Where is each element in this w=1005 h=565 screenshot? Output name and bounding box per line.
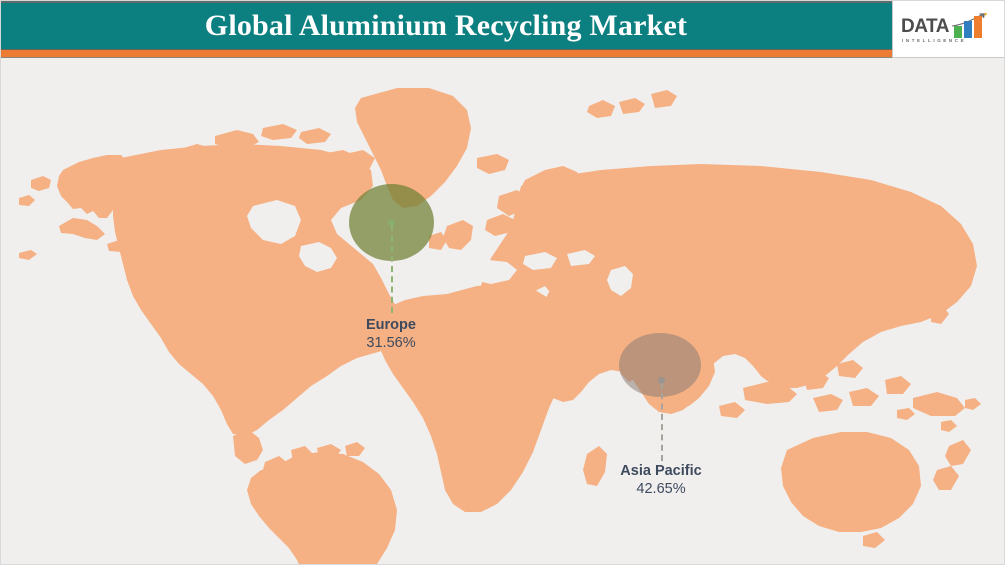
- callout-asia-pacific: Asia Pacific 42.65%: [591, 462, 731, 498]
- header-bar: Global Aluminium Recycling Market: [1, 1, 1005, 49]
- callout-europe: Europe 31.56%: [321, 316, 461, 352]
- logo-bar-blue: [964, 21, 972, 38]
- logo-bar-green: [954, 26, 962, 38]
- slide-canvas: Global Aluminium Recycling Market DATA I…: [0, 0, 1005, 565]
- logo-inner: DATA INTELLIGENCE: [899, 11, 999, 49]
- callout-asia-pacific-value: 42.65%: [591, 480, 731, 498]
- leader-line-europe: [391, 225, 393, 313]
- bubble-asia-pacific[interactable]: [619, 333, 701, 397]
- callout-europe-label: Europe: [321, 316, 461, 334]
- world-map-landmasses: [1, 58, 1005, 565]
- header-accent-stripe: [1, 49, 1005, 58]
- logo-wordmark: DATA: [901, 17, 949, 36]
- callout-asia-pacific-label: Asia Pacific: [591, 462, 731, 480]
- brand-logo: DATA INTELLIGENCE: [892, 1, 1004, 58]
- logo-bar-orange: [974, 16, 982, 38]
- world-map-panel: Europe 31.56% Asia Pacific 42.65%: [1, 58, 1005, 565]
- leader-line-asia-pacific: [661, 383, 663, 461]
- logo-subtitle: INTELLIGENCE: [902, 38, 966, 43]
- page-title: Global Aluminium Recycling Market: [1, 3, 891, 51]
- callout-europe-value: 31.56%: [321, 334, 461, 352]
